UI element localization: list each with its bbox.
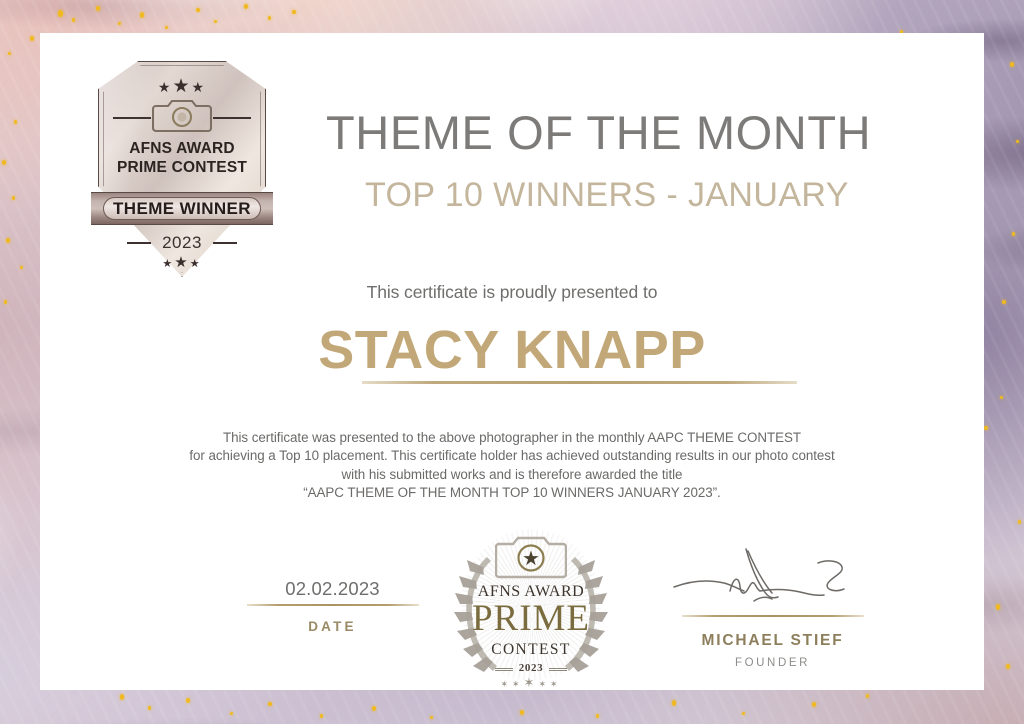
gold-fleck — [672, 700, 676, 706]
gold-fleck — [196, 8, 200, 12]
badge-dash-right — [213, 117, 251, 119]
gold-fleck — [596, 714, 599, 718]
gold-fleck — [214, 20, 217, 23]
founder-role: FOUNDER — [630, 657, 915, 669]
date-rule — [247, 604, 419, 606]
seal-camera-star-icon: ★ — [495, 529, 567, 588]
date-block: 02.02.2023 DATE — [210, 578, 455, 634]
gold-fleck — [742, 712, 745, 715]
theme-winner-badge: ★★★ AFNS AWARD PRIME CONTEST THEME WINNE… — [91, 55, 273, 283]
signature-block: MICHAEL STIEF FOUNDER — [630, 539, 915, 669]
seal-year-dash-right — [549, 668, 567, 671]
gold-fleck — [1018, 520, 1021, 524]
svg-text:★: ★ — [522, 548, 540, 570]
founder-name: MICHAEL STIEF — [630, 632, 915, 650]
gold-fleck — [165, 26, 168, 29]
prime-contest-seal: ★ AFNS AWARD PRIME CONTEST 2023 ✶✶✶✶✶ — [447, 523, 615, 695]
certificate-footer: 02.02.2023 DATE — [40, 503, 984, 693]
seal-year-dash-left — [495, 668, 513, 671]
badge-title-line1: AFNS AWARD — [91, 139, 273, 158]
certificate-body-text: This certificate was presented to the ab… — [40, 429, 984, 502]
gold-fleck — [140, 12, 144, 18]
gold-fleck — [244, 4, 248, 9]
gold-fleck — [120, 694, 124, 700]
body-line-3: with his submitted works and is therefor… — [40, 466, 984, 484]
gold-fleck — [96, 6, 100, 11]
gold-fleck — [30, 36, 34, 41]
certificate-card: ★★★ AFNS AWARD PRIME CONTEST THEME WINNE… — [40, 33, 984, 690]
gold-fleck — [6, 238, 10, 243]
gold-fleck — [996, 604, 1000, 610]
badge-ribbon-label: THEME WINNER — [113, 199, 251, 219]
page-subtitle: TOP 10 WINNERS - JANUARY — [365, 178, 835, 212]
gold-fleck — [430, 716, 433, 719]
badge-year-dash-left — [127, 242, 151, 244]
founder-signature-mark — [630, 539, 915, 611]
badge-ribbon: THEME WINNER — [91, 192, 273, 225]
presented-to-text: This certificate is proudly presented to — [40, 282, 984, 303]
badge-year-dash-right — [213, 242, 237, 244]
seal-contest-line: CONTEST — [447, 641, 615, 659]
seal-prime-line: PRIME — [447, 598, 615, 641]
gold-fleck — [268, 16, 271, 20]
gold-fleck — [186, 698, 190, 703]
gold-fleck — [4, 300, 7, 304]
badge-ribbon-inner: THEME WINNER — [103, 197, 261, 220]
gold-fleck — [372, 706, 376, 711]
gold-fleck — [812, 702, 816, 707]
gold-fleck — [1012, 232, 1015, 236]
gold-fleck — [1002, 300, 1006, 304]
certificate-header: ★★★ AFNS AWARD PRIME CONTEST THEME WINNE… — [40, 33, 984, 263]
gold-fleck — [12, 196, 15, 200]
gold-fleck — [1010, 62, 1014, 67]
gold-fleck — [14, 120, 17, 124]
body-line-2: for achieving a Top 10 placement. This c… — [40, 447, 984, 465]
gold-fleck — [320, 714, 323, 718]
badge-stars-bottom-icon: ★★★ — [91, 255, 273, 270]
gold-fleck — [20, 266, 23, 269]
gold-fleck — [2, 160, 6, 165]
date-value: 02.02.2023 — [210, 578, 455, 600]
badge-year: 2023 — [91, 233, 273, 253]
gold-fleck — [118, 22, 121, 25]
recipient-name: STACY KNAPP — [40, 323, 984, 377]
seal-stars-icon: ✶✶✶✶✶ — [447, 676, 615, 689]
gold-fleck — [520, 710, 524, 715]
badge-title: AFNS AWARD PRIME CONTEST — [91, 139, 273, 177]
gold-fleck — [866, 694, 869, 698]
badge-stars-top-icon: ★★★ — [91, 77, 273, 96]
body-line-4: “AAPC THEME OF THE MONTH TOP 10 WINNERS … — [40, 484, 984, 502]
badge-dash-left — [113, 117, 151, 119]
gold-fleck — [58, 10, 63, 17]
gold-fleck — [1006, 664, 1010, 669]
body-line-1: This certificate was presented to the ab… — [40, 429, 984, 447]
gold-fleck — [984, 426, 988, 430]
date-label: DATE — [210, 619, 455, 634]
gold-fleck — [268, 702, 272, 706]
page-title: THEME OF THE MONTH — [326, 109, 846, 156]
recipient-name-underline — [362, 381, 797, 384]
gold-fleck — [1000, 396, 1003, 399]
gold-fleck — [292, 10, 296, 14]
signature-rule — [682, 615, 864, 617]
gold-fleck — [148, 706, 151, 710]
gold-fleck — [8, 52, 11, 55]
seal-year: 2023 — [447, 662, 615, 674]
badge-camera-icon — [152, 95, 212, 140]
badge-title-line2: PRIME CONTEST — [91, 158, 273, 177]
gold-fleck — [1016, 140, 1019, 143]
gold-fleck — [230, 712, 233, 715]
gold-fleck — [72, 18, 75, 22]
